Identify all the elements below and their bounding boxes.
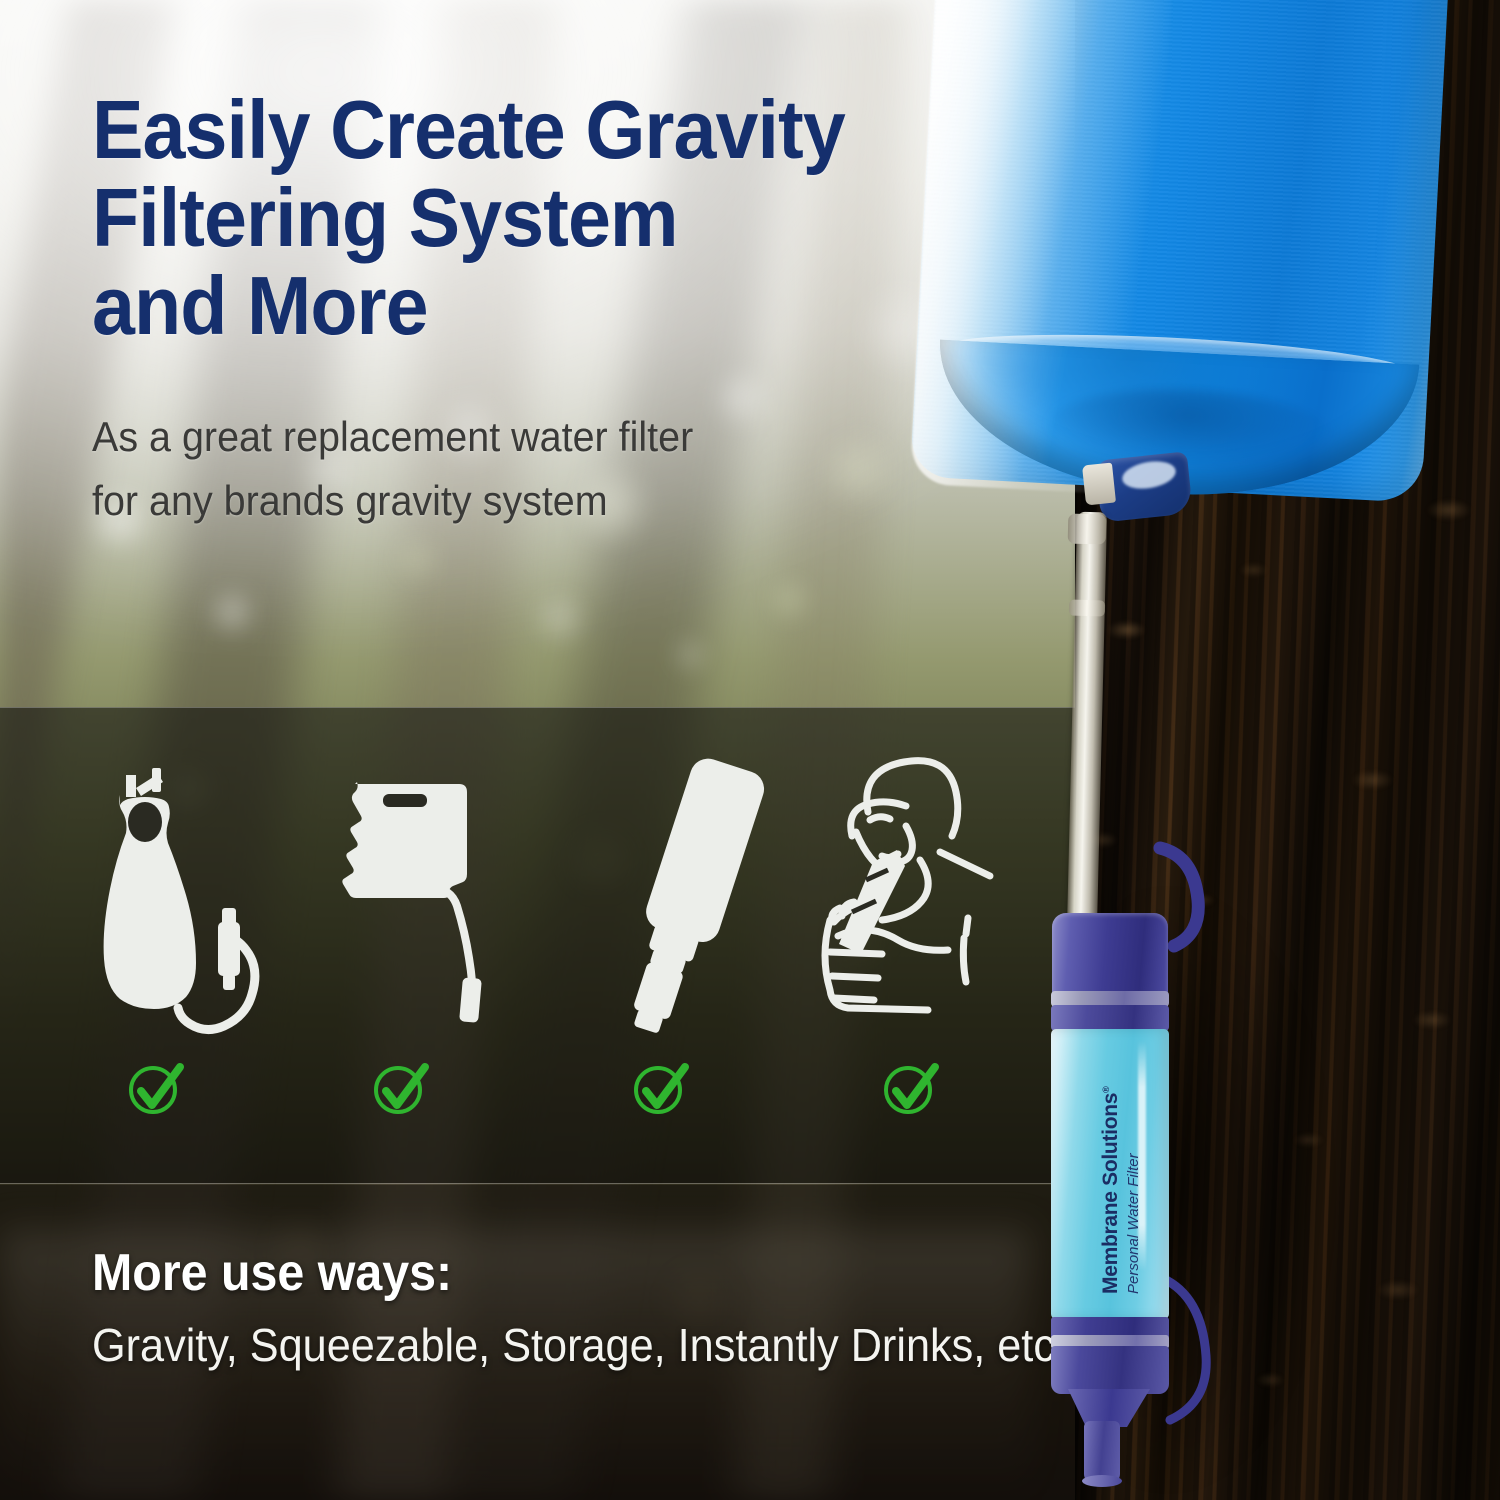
hose-collar-top [1068,514,1107,545]
filter-bottom-cap [1051,1346,1169,1394]
green-check-icon [125,1058,185,1118]
squeeze-pouch-icon [568,740,808,1040]
storage-jerrycan-icon [325,740,565,1040]
page-subtitle: As a great replacement water filter for … [92,405,938,533]
green-check-icon [630,1058,690,1118]
valve-clip[interactable] [1082,463,1116,506]
headline-line-2: Filtering System [92,174,985,262]
page-title: Easily Create Gravity Filtering System a… [92,86,985,350]
green-check-icon [880,1058,940,1118]
check-row [0,1058,1030,1122]
headline-line-1: Easily Create Gravity [92,86,985,174]
headline-line-3: and More [92,262,985,350]
filter-body [1051,1029,1169,1319]
hanging-reservoir-bag-icon [82,740,322,1040]
subtitle-line-2: for any brands gravity system [92,469,938,533]
footer-use-list: Gravity, Squeezable, Storage, Instantly … [92,1318,1067,1372]
product-marketing-image: Easily Create Gravity Filtering System a… [0,0,1500,1500]
hose-collar-mid [1069,600,1105,617]
filter-collar-upper [1051,1005,1169,1031]
footer-title: More use ways: [92,1243,452,1303]
filter-top-cap [1052,913,1168,997]
personal-water-filter: Membrane Solutions® Personal Water Filte… [1042,905,1192,1465]
filter-body-gloss [1138,1041,1146,1271]
filter-mouthpiece [1084,1421,1120,1483]
use-case-icon-row [0,740,1030,1080]
filter-mouthpiece-rim [1082,1475,1122,1487]
person-drinking-icon [800,740,1040,1040]
subtitle-line-1: As a great replacement water filter [92,405,938,469]
green-check-icon [370,1058,430,1118]
water-reservoir-bag: Membrane Solutions ® [928,0,1440,490]
